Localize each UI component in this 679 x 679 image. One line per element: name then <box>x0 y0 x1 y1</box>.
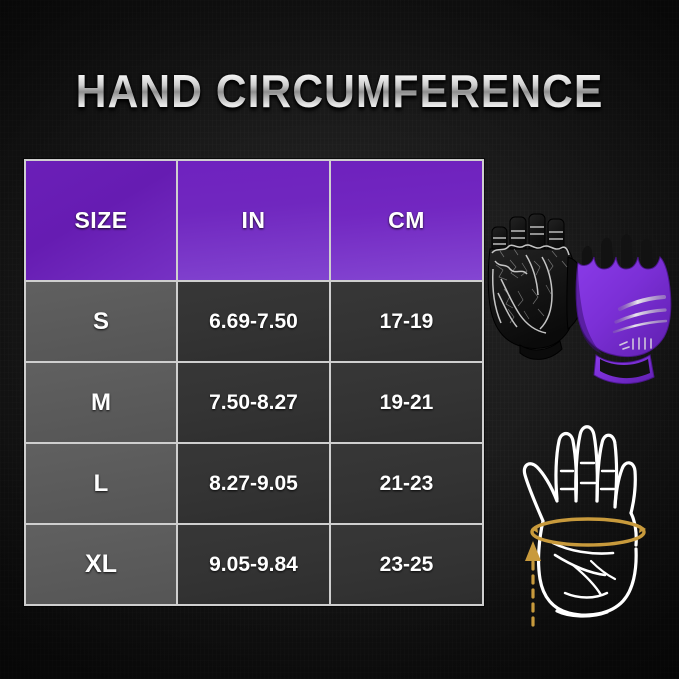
back-side-glove <box>576 234 671 383</box>
table-row: M 7.50-8.27 19-21 <box>25 362 483 443</box>
cell-cm: 23-25 <box>330 524 483 605</box>
cell-cm: 19-21 <box>330 362 483 443</box>
hand-measure-diagram <box>495 415 675 635</box>
size-chart-page: HAND CIRCUMFERENCE SIZE IN CM S 6.69-7.5… <box>0 0 679 679</box>
cell-size: S <box>25 281 177 362</box>
table-header: SIZE IN CM <box>25 160 483 281</box>
table-row: XL 9.05-9.84 23-25 <box>25 524 483 605</box>
table-body: S 6.69-7.50 17-19 M 7.50-8.27 19-21 L 8.… <box>25 281 483 605</box>
cell-inches: 6.69-7.50 <box>177 281 330 362</box>
cell-size: XL <box>25 524 177 605</box>
palm-side-glove <box>488 214 585 359</box>
column-header-in: IN <box>177 160 330 281</box>
gloves-image <box>482 205 679 395</box>
cell-cm: 17-19 <box>330 281 483 362</box>
column-header-size: SIZE <box>25 160 177 281</box>
cell-inches: 7.50-8.27 <box>177 362 330 443</box>
cell-inches: 8.27-9.05 <box>177 443 330 524</box>
cell-size: M <box>25 362 177 443</box>
cell-inches: 9.05-9.84 <box>177 524 330 605</box>
table-row: L 8.27-9.05 21-23 <box>25 443 483 524</box>
size-chart-table: SIZE IN CM S 6.69-7.50 17-19 M 7.50-8.27… <box>24 159 484 606</box>
table-header-row: SIZE IN CM <box>25 160 483 281</box>
column-header-cm: CM <box>330 160 483 281</box>
table-row: S 6.69-7.50 17-19 <box>25 281 483 362</box>
measuring-tape-icon <box>531 519 646 545</box>
cell-size: L <box>25 443 177 524</box>
page-title: HAND CIRCUMFERENCE <box>24 66 655 116</box>
cell-cm: 21-23 <box>330 443 483 524</box>
